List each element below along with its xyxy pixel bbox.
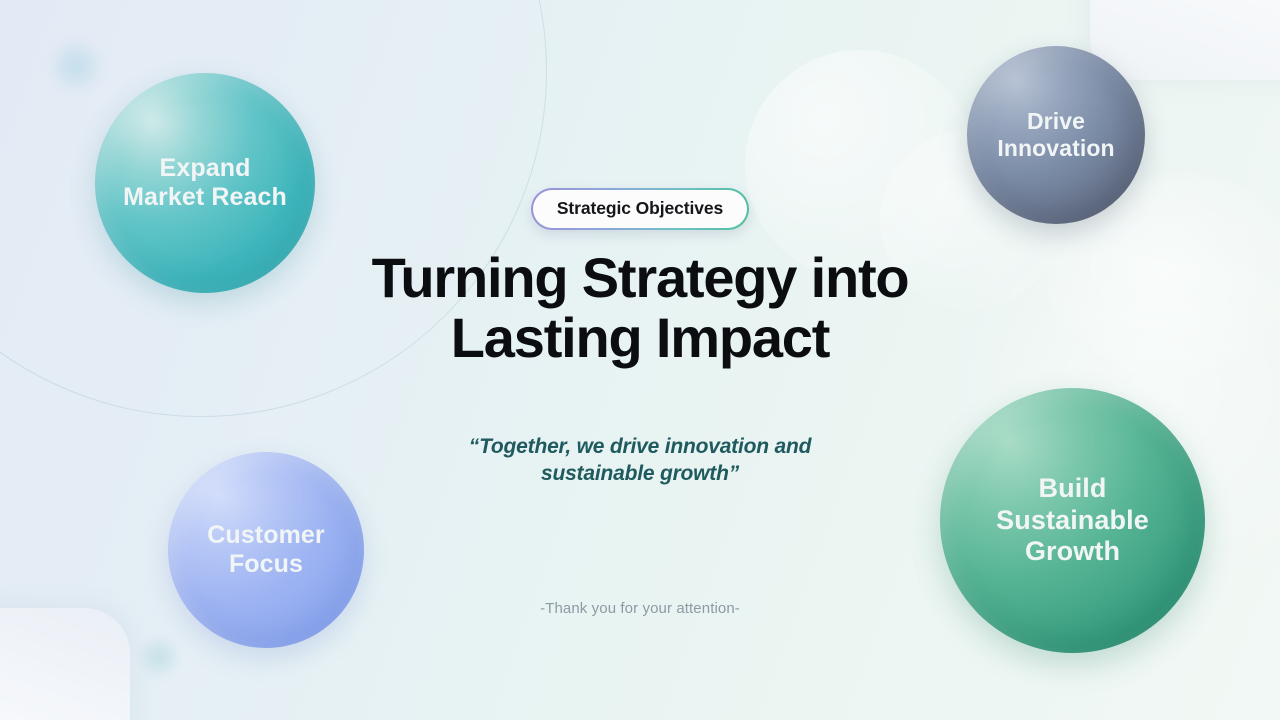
slide-quote: “Together, we drive innovation and susta… — [469, 434, 811, 488]
strategic-objectives-badge[interactable]: Strategic Objectives — [531, 188, 749, 230]
decorative-panel-top-right — [1090, 0, 1280, 80]
center-content: Strategic Objectives Turning Strategy in… — [0, 188, 1280, 632]
page-title: Turning Strategy into Lasting Impact — [372, 248, 909, 369]
bubble-label: Drive Innovation — [997, 108, 1114, 162]
presentation-slide: Expand Market Reach Drive Innovation Cus… — [0, 0, 1280, 720]
closing-note: -Thank you for your attention- — [540, 600, 740, 617]
decorative-dot-top-left — [52, 42, 100, 90]
badge-label: Strategic Objectives — [533, 190, 747, 228]
decorative-dot-bottom-left — [140, 638, 178, 676]
